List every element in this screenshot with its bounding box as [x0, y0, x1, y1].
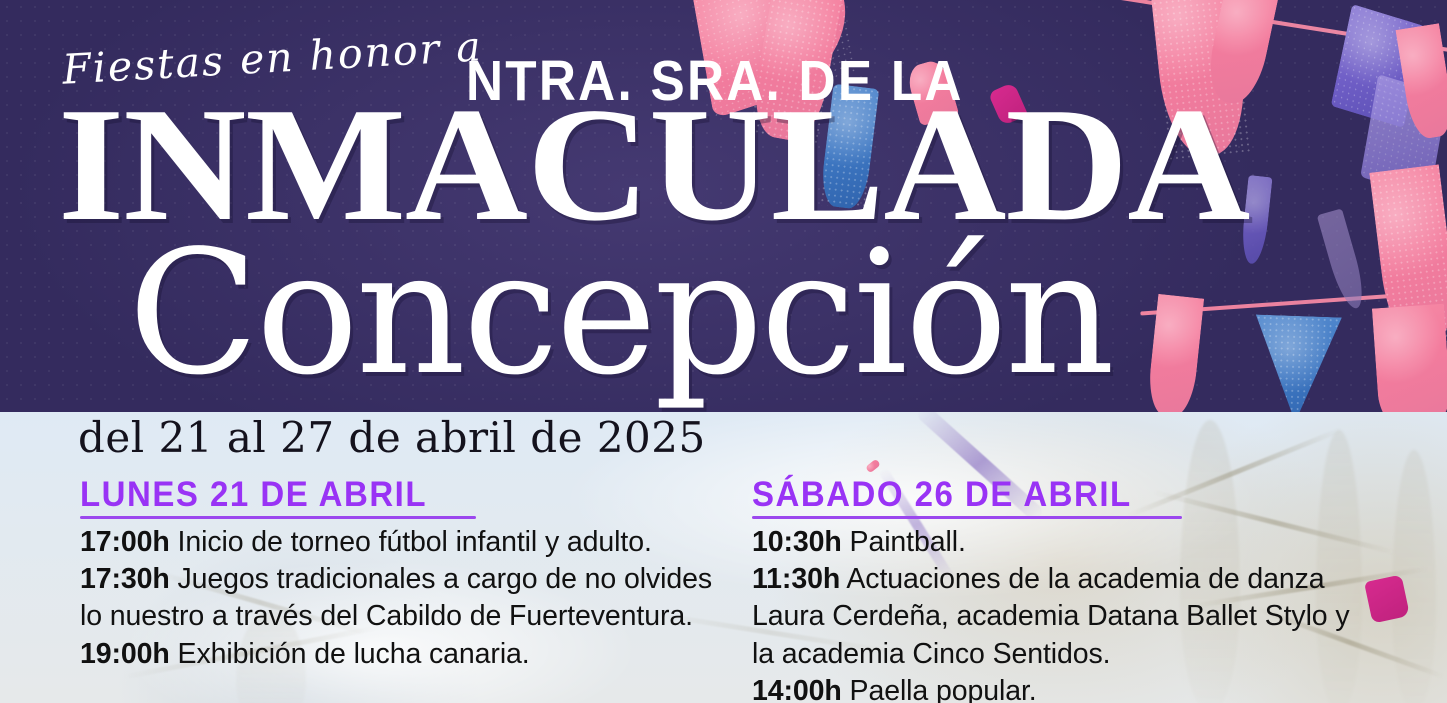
day-heading-underline — [80, 516, 476, 519]
day-heading: SÁBADO 26 DE ABRIL — [752, 474, 1372, 515]
event-description: Inicio de torneo fútbol infantil y adult… — [178, 526, 652, 558]
day-heading: LUNES 21 DE ABRIL — [80, 474, 720, 515]
day-heading-underline — [752, 516, 1182, 519]
poster-dateline: del 21 al 27 de abril de 2025 — [78, 413, 706, 462]
event-description: Actuaciones de la academia de danza Laur… — [752, 563, 1350, 669]
event-time: 17:00h — [80, 526, 170, 558]
program-event: 19:00h Exhibición de lucha canaria. — [80, 636, 720, 673]
program-event: 17:30h Juegos tradicionales a cargo de n… — [80, 561, 720, 635]
event-time: 19:00h — [80, 638, 170, 670]
event-description: Exhibición de lucha canaria. — [178, 638, 530, 670]
bunting-flag-pink — [1372, 304, 1447, 412]
festival-poster: Fiestas en honor a NTRA. SRA. DE LA INMA… — [0, 0, 1447, 703]
title-line-2: Concepción — [128, 228, 1112, 399]
event-time: 10:30h — [752, 526, 842, 558]
event-description: Paintball. — [850, 526, 966, 558]
event-time: 11:30h — [752, 563, 840, 595]
program-column-saturday: SÁBADO 26 DE ABRIL 10:30h Paintball. 11:… — [752, 474, 1372, 703]
event-time: 17:30h — [80, 563, 170, 595]
program-event: 14:00h Paella popular. — [752, 673, 1372, 703]
program-event: 10:30h Paintball. — [752, 524, 1372, 561]
event-description: Paella popular. — [850, 675, 1037, 703]
program-column-monday: LUNES 21 DE ABRIL 17:00h Inicio de torne… — [80, 474, 720, 673]
program-event: 17:00h Inicio de torneo fútbol infantil … — [80, 524, 720, 561]
program-event: 11:30h Actuaciones de la academia de dan… — [752, 561, 1372, 673]
event-time: 14:00h — [752, 675, 842, 703]
event-description: Juegos tradicionales a cargo de no olvid… — [80, 563, 712, 632]
